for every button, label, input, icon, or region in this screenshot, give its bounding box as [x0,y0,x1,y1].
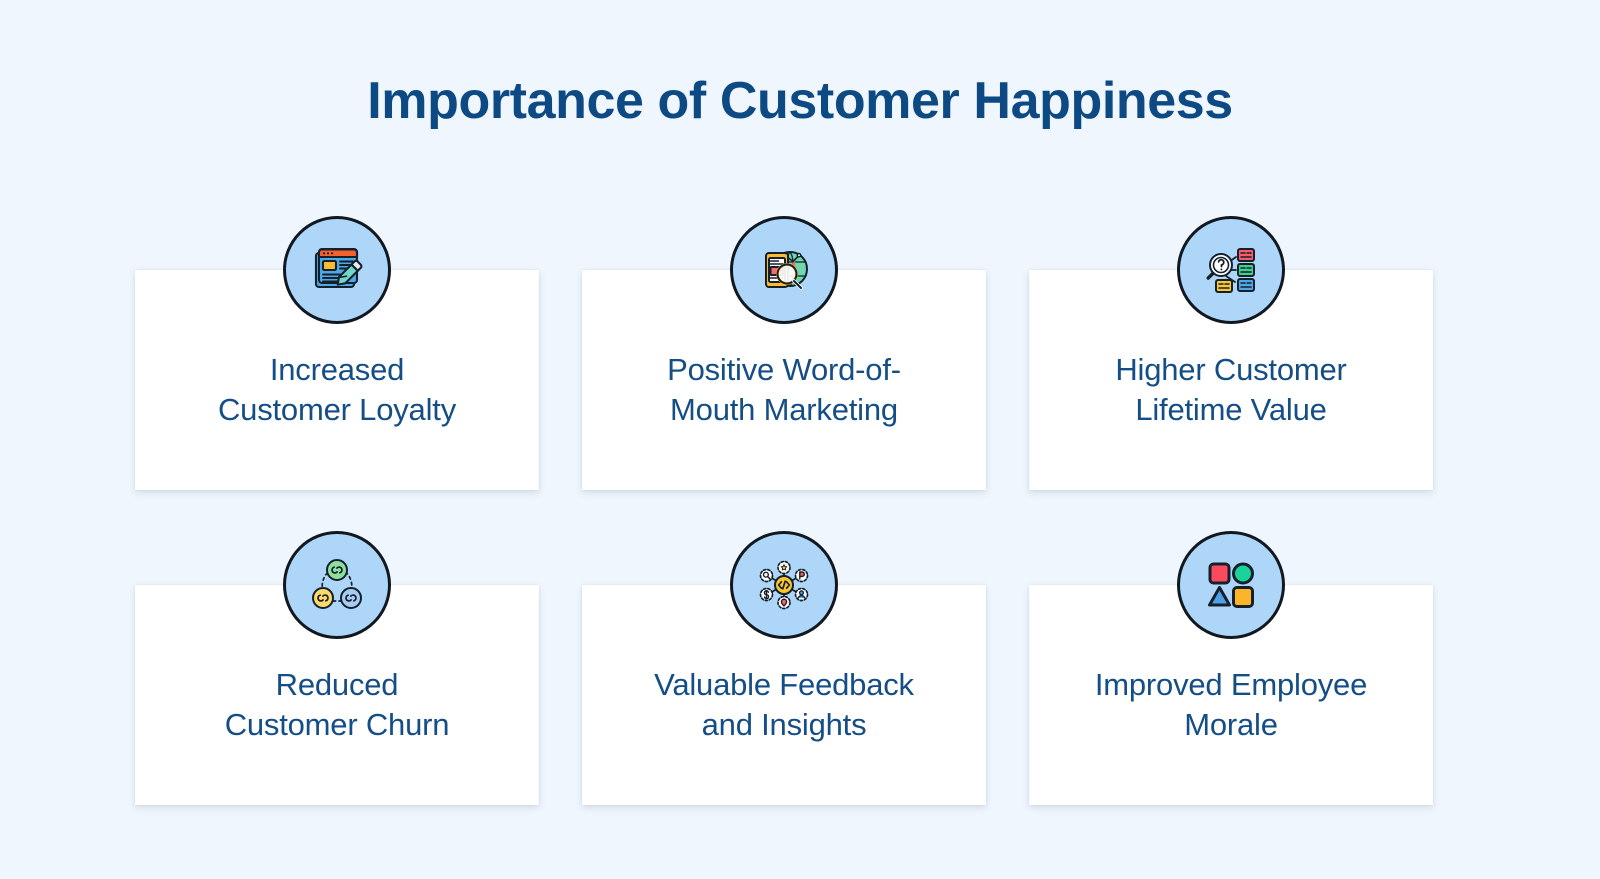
benefit-card-grid: Increased Customer Loyalty [135,270,1433,805]
benefit-card[interactable]: Valuable Feedback and Insights [582,585,986,805]
page-title: Importance of Customer Happiness [0,72,1600,132]
benefit-card-label: Improved Employee Morale [1071,665,1391,744]
document-edit-icon [283,216,391,324]
benefit-card[interactable]: Positive Word-of- Mouth Marketing [582,270,986,490]
benefit-card[interactable]: Reduced Customer Churn [135,585,539,805]
code-hub-network-icon [730,531,838,639]
benefit-card-label: Higher Customer Lifetime Value [1091,350,1370,429]
infographic-page: Importance of Customer Happiness [0,0,1600,879]
global-analytics-search-icon [730,216,838,324]
benefit-card-label: Increased Customer Loyalty [194,350,480,429]
benefit-card[interactable]: Increased Customer Loyalty [135,270,539,490]
benefit-card-label: Reduced Customer Churn [201,665,474,744]
benefit-card-label: Valuable Feedback and Insights [630,665,938,744]
search-question-network-icon [1177,216,1285,324]
benefit-card[interactable]: Improved Employee Morale [1029,585,1433,805]
shapes-group-icon [1177,531,1285,639]
benefit-card[interactable]: Higher Customer Lifetime Value [1029,270,1433,490]
linked-nodes-icon [283,531,391,639]
benefit-card-label: Positive Word-of- Mouth Marketing [643,350,925,429]
